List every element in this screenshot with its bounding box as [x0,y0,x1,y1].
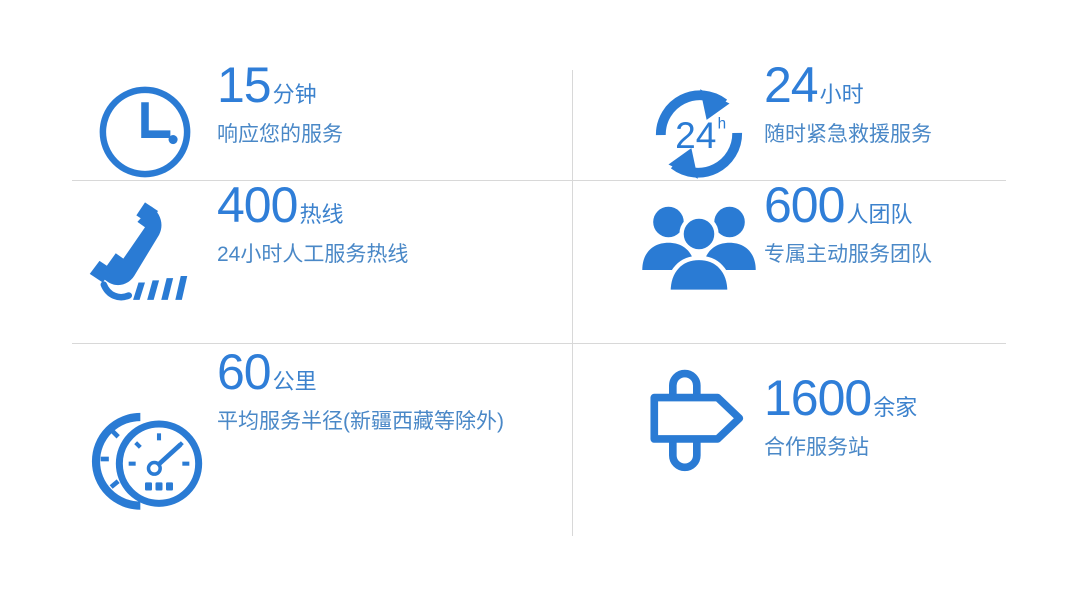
stat-headline: 24小时 [764,60,1006,110]
stat-number: 15 [217,57,271,113]
stat-card-service-stations: 1600余家 合作服务站 [572,345,1006,540]
clock-icon [72,60,217,186]
people-group-icon [634,180,764,296]
stats-row-2: 400热线 24小时人工服务热线 [72,180,1006,343]
signpost-icon [634,345,764,476]
stat-unit: 人团队 [846,202,912,227]
stat-text: 400热线 24小时人工服务热线 [217,180,572,270]
stat-text: 600人团队 专属主动服务团队 [764,180,1006,270]
stat-card-emergency-rescue: 24 h 24小时 随时紧急救援服务 [572,60,1006,178]
stat-text: 24小时 随时紧急救援服务 [764,60,1006,150]
stat-text: 15分钟 响应您的服务 [217,60,572,150]
stat-headline: 600人团队 [764,180,1006,230]
stat-headline: 60公里 [217,347,572,397]
stats-row-1: 15分钟 响应您的服务 24 h [72,60,1006,178]
speedometer-icon [72,345,217,520]
stat-text: 1600余家 合作服务站 [764,345,1006,463]
stat-number: 60 [217,344,271,400]
stat-subtitle: 24小时人工服务热线 [217,240,572,270]
stat-subtitle: 平均服务半径(新疆西藏等除外) [217,407,569,437]
stat-headline: 15分钟 [217,60,572,110]
stat-number: 1600 [764,370,871,426]
stat-headline: 1600余家 [764,373,1006,423]
24h-cycle-icon: 24 h [634,60,764,194]
stat-subtitle: 专属主动服务团队 [764,240,1006,270]
24h-icon-superscript: h [718,116,727,133]
stats-grid: 15分钟 响应您的服务 24 h [72,60,1006,540]
stat-card-hotline: 400热线 24小时人工服务热线 [72,180,572,343]
stat-card-response-time: 15分钟 响应您的服务 [72,60,572,178]
stats-board: 15分钟 响应您的服务 24 h [0,0,1080,611]
stat-unit: 小时 [820,82,864,107]
stat-subtitle: 随时紧急救援服务 [764,120,1006,150]
stat-headline: 400热线 [217,180,572,230]
svg-text:24: 24 [675,114,716,156]
stat-unit: 余家 [873,395,917,420]
stat-unit: 公里 [273,369,317,394]
stat-unit: 分钟 [273,82,317,107]
phone-handset-icon [72,180,217,306]
stat-card-service-radius: 60公里 平均服务半径(新疆西藏等除外) [72,345,572,540]
stat-subtitle: 合作服务站 [764,433,1006,463]
stats-row-3: 60公里 平均服务半径(新疆西藏等除外) 1600余家 合作服务站 [72,345,1006,540]
stat-number: 600 [764,177,844,233]
stat-number: 24 [764,57,818,113]
stat-card-team-size: 600人团队 专属主动服务团队 [572,180,1006,343]
stat-text: 60公里 平均服务半径(新疆西藏等除外) [217,345,572,437]
stat-unit: 热线 [299,202,343,227]
stat-subtitle: 响应您的服务 [217,120,572,150]
stat-number: 400 [217,177,297,233]
